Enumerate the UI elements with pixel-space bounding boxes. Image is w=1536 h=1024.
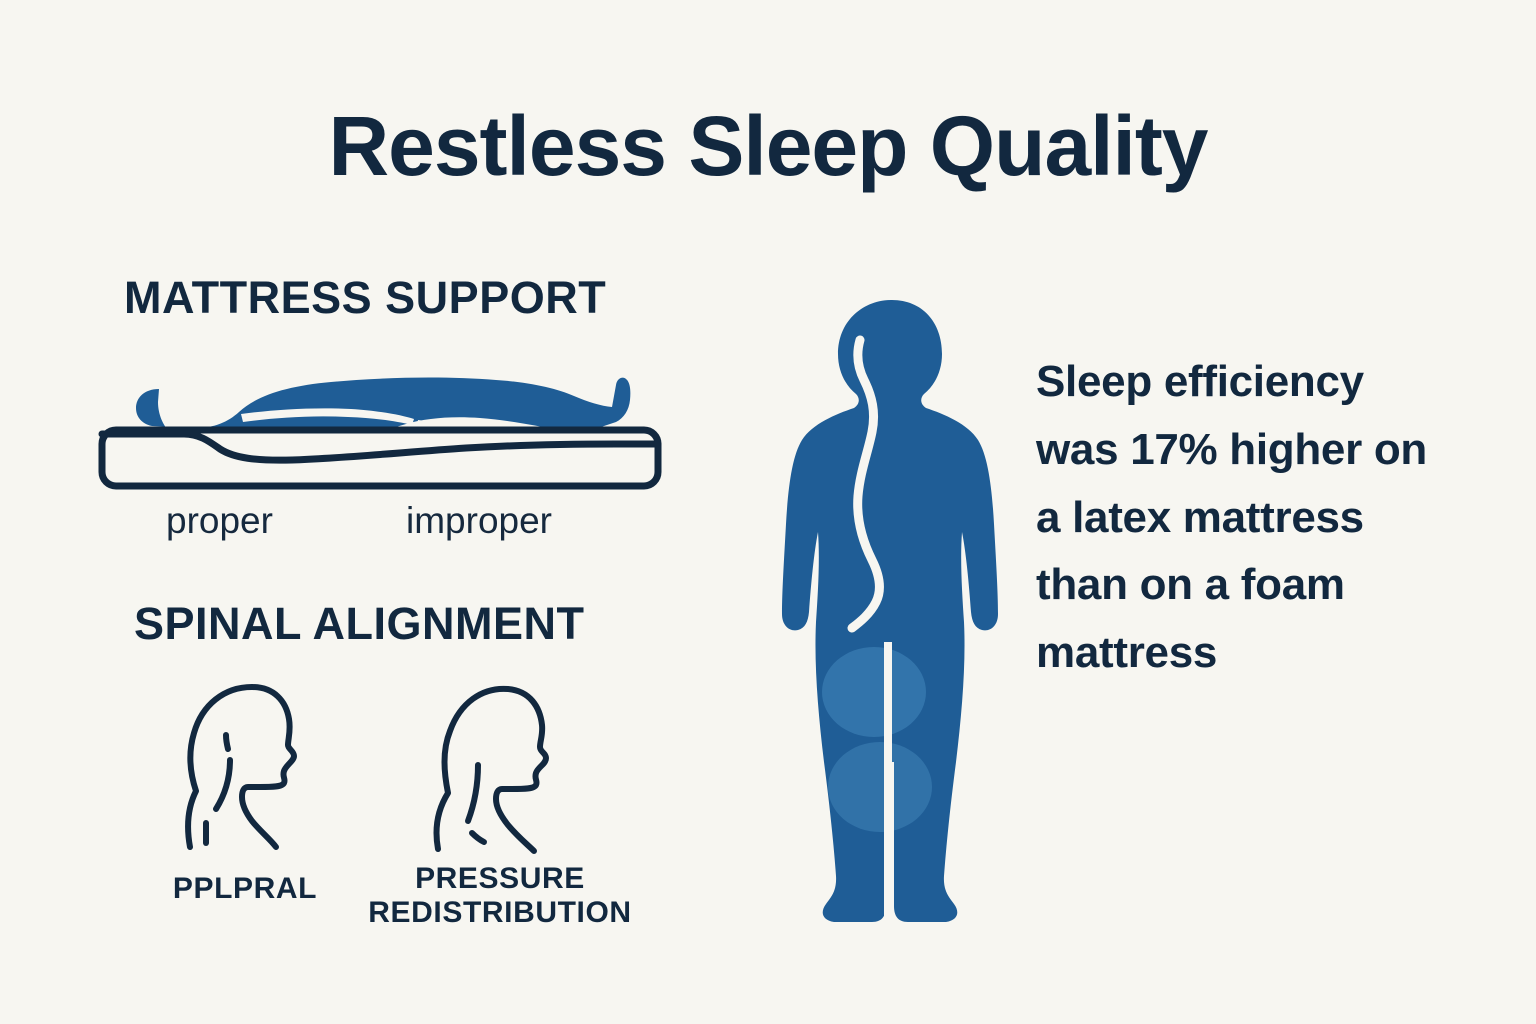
sublabel-postural: PPLPRAL — [120, 872, 370, 906]
standing-body-spine-figure — [760, 292, 1025, 932]
head-neck-profile-icon — [160, 665, 360, 855]
label-improper: improper — [406, 500, 552, 542]
person-lying-on-mattress-illustration — [96, 352, 666, 497]
stat-text: Sleep efficiency was 17% higher on a lat… — [1036, 348, 1436, 687]
label-proper: proper — [166, 500, 273, 542]
page-title: Restless Sleep Quality — [0, 104, 1536, 188]
section-heading-spinal-alignment: SPINAL ALIGNMENT — [134, 598, 585, 650]
head-neck-profile-icon — [412, 665, 612, 855]
sublabel-pressure-redistribution: PRESSURE REDISTRIBUTION — [340, 862, 660, 929]
infographic-canvas: Restless Sleep Quality MATTRESS SUPPORT … — [0, 0, 1536, 1024]
section-heading-mattress-support: MATTRESS SUPPORT — [124, 272, 606, 324]
